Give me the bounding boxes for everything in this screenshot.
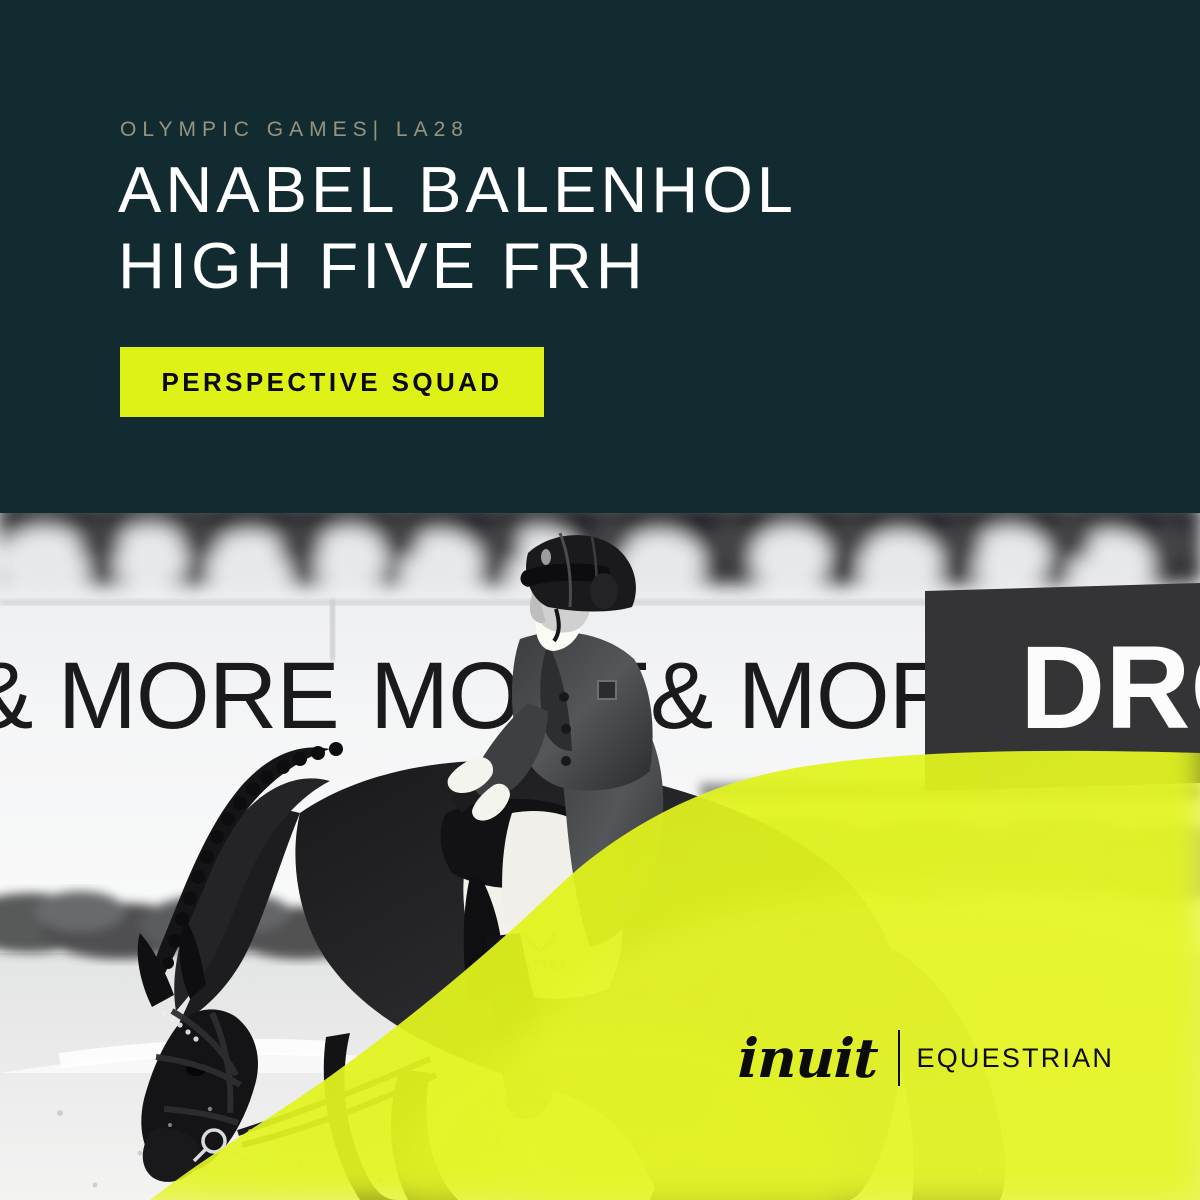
photo-illustration: & MORE MORE & MORE DRO: [0, 513, 1200, 1200]
athlete-photo: & MORE MORE & MORE DRO: [0, 513, 1200, 1200]
header-panel: OLYMPIC GAMES| LA28 ANABEL BALENHOL HIGH…: [0, 0, 1200, 513]
horse-name: HIGH FIVE FRH: [118, 228, 797, 304]
poster-root: & MORE MORE & MORE DRO: [0, 0, 1200, 1200]
brand-wordmark: inuit: [737, 1031, 878, 1085]
brand-logo[interactable]: inuit EQUESTRIAN: [738, 1028, 1114, 1088]
brand-subtitle: EQUESTRIAN: [917, 1045, 1115, 1072]
svg-text:DRO: DRO: [1020, 622, 1200, 754]
svg-text:& MORE: & MORE: [0, 643, 339, 749]
event-eyebrow: OLYMPIC GAMES| LA28: [120, 118, 469, 142]
status-badge-label: PERSPECTIVE SQUAD: [162, 367, 503, 398]
page-title: ANABEL BALENHOL HIGH FIVE FRH: [118, 152, 797, 304]
athlete-name: ANABEL BALENHOL: [118, 152, 797, 228]
status-badge[interactable]: PERSPECTIVE SQUAD: [120, 347, 544, 417]
logo-divider-icon: [898, 1030, 900, 1086]
